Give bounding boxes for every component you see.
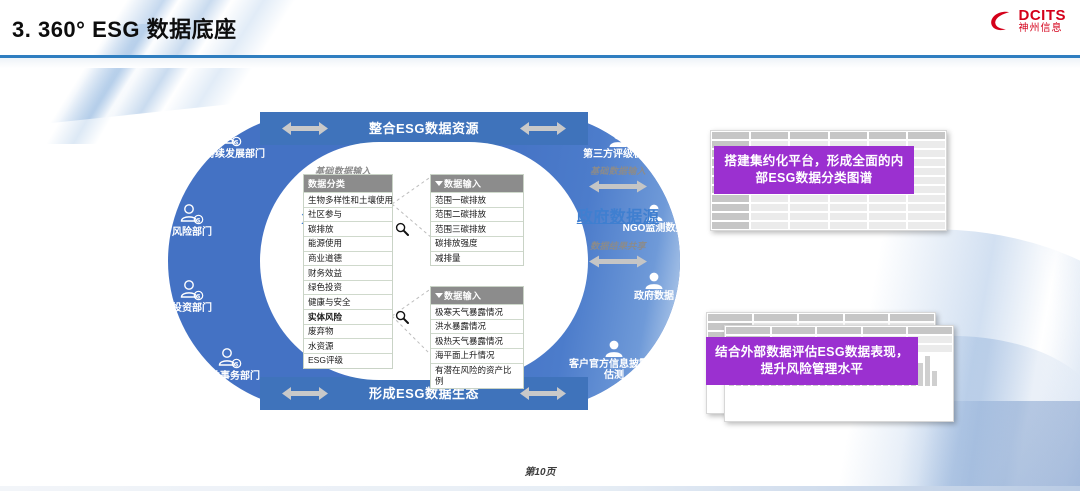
- data-category-row[interactable]: 财务效益: [304, 265, 392, 280]
- data-input-row[interactable]: 范围二碳排放: [431, 207, 523, 222]
- mock-table-cell: [830, 195, 867, 202]
- magnifier-icon[interactable]: [395, 310, 409, 324]
- data-category-rows: 生物多样性和土壤使用社区参与碳排放能源使用商业道德财务效益绿色投资健康与安全实体…: [304, 192, 392, 368]
- data-category-row[interactable]: 健康与安全: [304, 294, 392, 309]
- mock-table-cell: [751, 132, 788, 139]
- mock-table-cell: [890, 314, 934, 321]
- double-arrow-icon: [282, 386, 328, 401]
- double-arrow-icon: [520, 121, 566, 136]
- mock-table-row: [711, 194, 946, 203]
- person-badge-icon: $: [179, 280, 205, 302]
- data-category-label: 碳排放: [308, 224, 334, 234]
- table-header-data-category: 数据分类: [304, 175, 392, 192]
- data-input-box-carbon: 数据输入 范围一碳排放范围二碳排放范围三碳排放碳排放强度减排量: [430, 174, 524, 266]
- mock-table-cell: [712, 213, 749, 220]
- person-badge-icon: $: [217, 348, 243, 370]
- mock-bar: [925, 356, 930, 386]
- data-category-label: 生物多样性和土壤使用: [308, 195, 393, 205]
- band-top: 整合ESG数据资源: [260, 112, 588, 145]
- mock-table-row: [711, 203, 946, 212]
- chevron-down-icon: [435, 293, 443, 298]
- panel-caption-platform: 搭建集约化平台，形成全面的内部ESG数据分类图谱: [714, 146, 914, 194]
- data-category-label: ESG评级: [308, 355, 343, 365]
- double-arrow-icon: [282, 121, 328, 136]
- mock-table-cell: [751, 213, 788, 220]
- input-header-label: 数据输入: [444, 179, 481, 189]
- mock-table-cell: [708, 314, 752, 321]
- mock-table-cell: [908, 213, 945, 220]
- table-header-data-input: 数据输入: [431, 287, 523, 304]
- logo-text-cn: 神州信息: [1019, 24, 1067, 35]
- mock-table-cell: [726, 327, 770, 334]
- data-category-label: 健康与安全: [308, 297, 351, 307]
- mock-table-cell: [908, 204, 945, 211]
- data-category-row[interactable]: 能源使用: [304, 236, 392, 251]
- mock-table-cell: [712, 195, 749, 202]
- data-input-row[interactable]: 极热天气暴露情况: [431, 333, 523, 348]
- actor-label: 公共事务部门: [200, 371, 260, 382]
- double-arrow-icon: [589, 180, 647, 193]
- logo-wordmark: DCITS 神州信息: [1019, 8, 1067, 34]
- actor-investment-dept: $ 投资部门: [146, 280, 238, 314]
- data-category-row[interactable]: 废弃物: [304, 324, 392, 339]
- mock-table-cell: [712, 204, 749, 211]
- actor-sustainability-dept: $ 可持续发展部门: [184, 126, 276, 160]
- actor-label: 投资部门: [172, 303, 212, 314]
- mock-table-cell: [869, 195, 906, 202]
- mock-table-cell: [751, 222, 788, 229]
- data-input-box-physical-risk: 数据输入 极寒天气暴露情况洪水暴露情况极热天气暴露情况海平面上升情况有潜在风险的…: [430, 286, 524, 389]
- actor-public-affairs-dept: $ 公共事务部门: [184, 348, 276, 382]
- actor-risk-dept: $ 风险部门: [146, 204, 238, 238]
- panel-caption-risk: 结合外部数据评估ESG数据表现，提升风险管理水平: [706, 337, 918, 385]
- data-category-row[interactable]: 水资源: [304, 338, 392, 353]
- mock-table-cell: [908, 327, 952, 334]
- data-category-table: 数据分类 生物多样性和土壤使用社区参与碳排放能源使用商业道德财务效益绿色投资健康…: [303, 174, 393, 369]
- double-arrow-icon: [520, 386, 566, 401]
- data-category-row[interactable]: 实体风险: [304, 309, 392, 324]
- input-header-label: 数据输入: [444, 291, 481, 301]
- table-header-data-input: 数据输入: [431, 175, 523, 192]
- mock-table-cell: [790, 204, 827, 211]
- data-category-row[interactable]: ESG评级: [304, 353, 392, 368]
- mock-table-row: [725, 326, 953, 335]
- mock-table-cell: [790, 195, 827, 202]
- data-input-row[interactable]: 有潜在风险的资产比例: [431, 363, 523, 388]
- mock-table-cell: [712, 222, 749, 229]
- mock-table-cell: [908, 132, 945, 139]
- data-category-row[interactable]: 生物多样性和土壤使用: [304, 192, 392, 207]
- data-category-row[interactable]: 碳排放: [304, 221, 392, 236]
- mock-table-cell: [754, 314, 798, 321]
- mock-table-cell: [712, 132, 749, 139]
- data-input-row[interactable]: 碳排放强度: [431, 236, 523, 251]
- person-badge-icon: $: [179, 204, 205, 226]
- government-data-source-title: 政府数据源: [543, 203, 693, 227]
- mock-table-cell: [790, 132, 827, 139]
- mock-table-cell: [908, 195, 945, 202]
- government-data-source-column: 基础数据输入 政府数据源 数据结果共享: [543, 164, 693, 278]
- mock-table-cell: [790, 222, 827, 229]
- mock-table-cell: [908, 222, 945, 229]
- chevron-down-icon: [435, 181, 443, 186]
- data-input-row[interactable]: 洪水暴露情况: [431, 319, 523, 334]
- logo-text-en: DCITS: [1019, 8, 1067, 24]
- mock-table-cell: [863, 327, 907, 334]
- mock-table-cell: [869, 132, 906, 139]
- data-category-row[interactable]: 商业道德: [304, 251, 392, 266]
- data-category-label: 废弃物: [308, 326, 334, 336]
- data-category-label: 实体风险: [308, 312, 342, 322]
- mock-table-cell: [830, 132, 867, 139]
- data-category-label: 财务效益: [308, 268, 342, 278]
- data-input-row[interactable]: 范围三碳排放: [431, 221, 523, 236]
- mock-table-row: [711, 221, 946, 230]
- page-number: 第10页: [0, 463, 1080, 478]
- mock-table-cell: [869, 213, 906, 220]
- mock-bar: [932, 371, 937, 386]
- page-title: 3. 360° ESG 数据底座: [12, 12, 237, 44]
- flow-label-output: 数据结果共享: [543, 239, 693, 252]
- data-input-row[interactable]: 范围一碳排放: [431, 192, 523, 207]
- flow-label-input: 基础数据输入: [543, 164, 693, 177]
- data-input-row[interactable]: 减排量: [431, 251, 523, 266]
- dcits-swirl-icon: [988, 8, 1014, 34]
- mock-table-row: [707, 313, 935, 322]
- title-divider-shadow: [0, 58, 1080, 68]
- mock-table-row: [711, 212, 946, 221]
- mock-table-row: [711, 131, 946, 140]
- data-category-label: 绿色投资: [308, 282, 342, 292]
- data-input-rows: 范围一碳排放范围二碳排放范围三碳排放碳排放强度减排量: [431, 192, 523, 265]
- actor-client-official-disclosure: 客户官方信息披露及估测: [568, 340, 660, 381]
- actor-label: 客户官方信息披露及估测: [569, 359, 659, 381]
- actor-label: 风险部门: [172, 227, 212, 238]
- brand-logo: DCITS 神州信息: [988, 8, 1067, 34]
- mock-table-cell: [830, 222, 867, 229]
- double-arrow-icon: [589, 255, 647, 268]
- data-category-label: 能源使用: [308, 238, 342, 248]
- mock-table-cell: [751, 195, 788, 202]
- mock-table-cell: [790, 213, 827, 220]
- person-solid-icon: [607, 130, 629, 148]
- data-input-rows: 极寒天气暴露情况洪水暴露情况极热天气暴露情况海平面上升情况有潜在风险的资产比例: [431, 304, 523, 388]
- mock-table-cell: [799, 314, 843, 321]
- bottom-edge-line: [0, 486, 1080, 491]
- data-input-row[interactable]: 极寒天气暴露情况: [431, 304, 523, 319]
- data-category-row[interactable]: 社区参与: [304, 207, 392, 222]
- mock-table-cell: [772, 327, 816, 334]
- actor-label: 可持续发展部门: [195, 149, 265, 160]
- magnifier-icon[interactable]: [395, 222, 409, 236]
- mock-table-cell: [830, 213, 867, 220]
- mock-table-cell: [830, 204, 867, 211]
- person-solid-icon: [603, 340, 625, 358]
- connector-lines: [390, 170, 434, 380]
- data-category-label: 商业道德: [308, 253, 342, 263]
- mock-table-cell: [869, 204, 906, 211]
- data-category-row[interactable]: 绿色投资: [304, 280, 392, 295]
- data-input-row[interactable]: 海平面上升情况: [431, 348, 523, 363]
- data-category-label: 社区参与: [308, 209, 342, 219]
- data-category-label: 水资源: [308, 341, 334, 351]
- mock-table-cell: [817, 327, 861, 334]
- mock-bar: [918, 363, 923, 386]
- band-bottom: 形成ESG数据生态: [260, 377, 588, 410]
- mock-table-cell: [845, 314, 889, 321]
- actor-third-party-rating-agency: 第三方评级机构: [572, 130, 664, 160]
- actor-label: 政府数据: [634, 291, 674, 302]
- slide-canvas: 3. 360° ESG 数据底座 DCITS 神州信息 整合ESG数据资源 形成…: [0, 0, 1080, 491]
- actor-label: 第三方评级机构: [583, 149, 653, 160]
- mock-table-cell: [869, 222, 906, 229]
- mock-table-cell: [751, 204, 788, 211]
- person-badge-icon: $: [217, 126, 243, 148]
